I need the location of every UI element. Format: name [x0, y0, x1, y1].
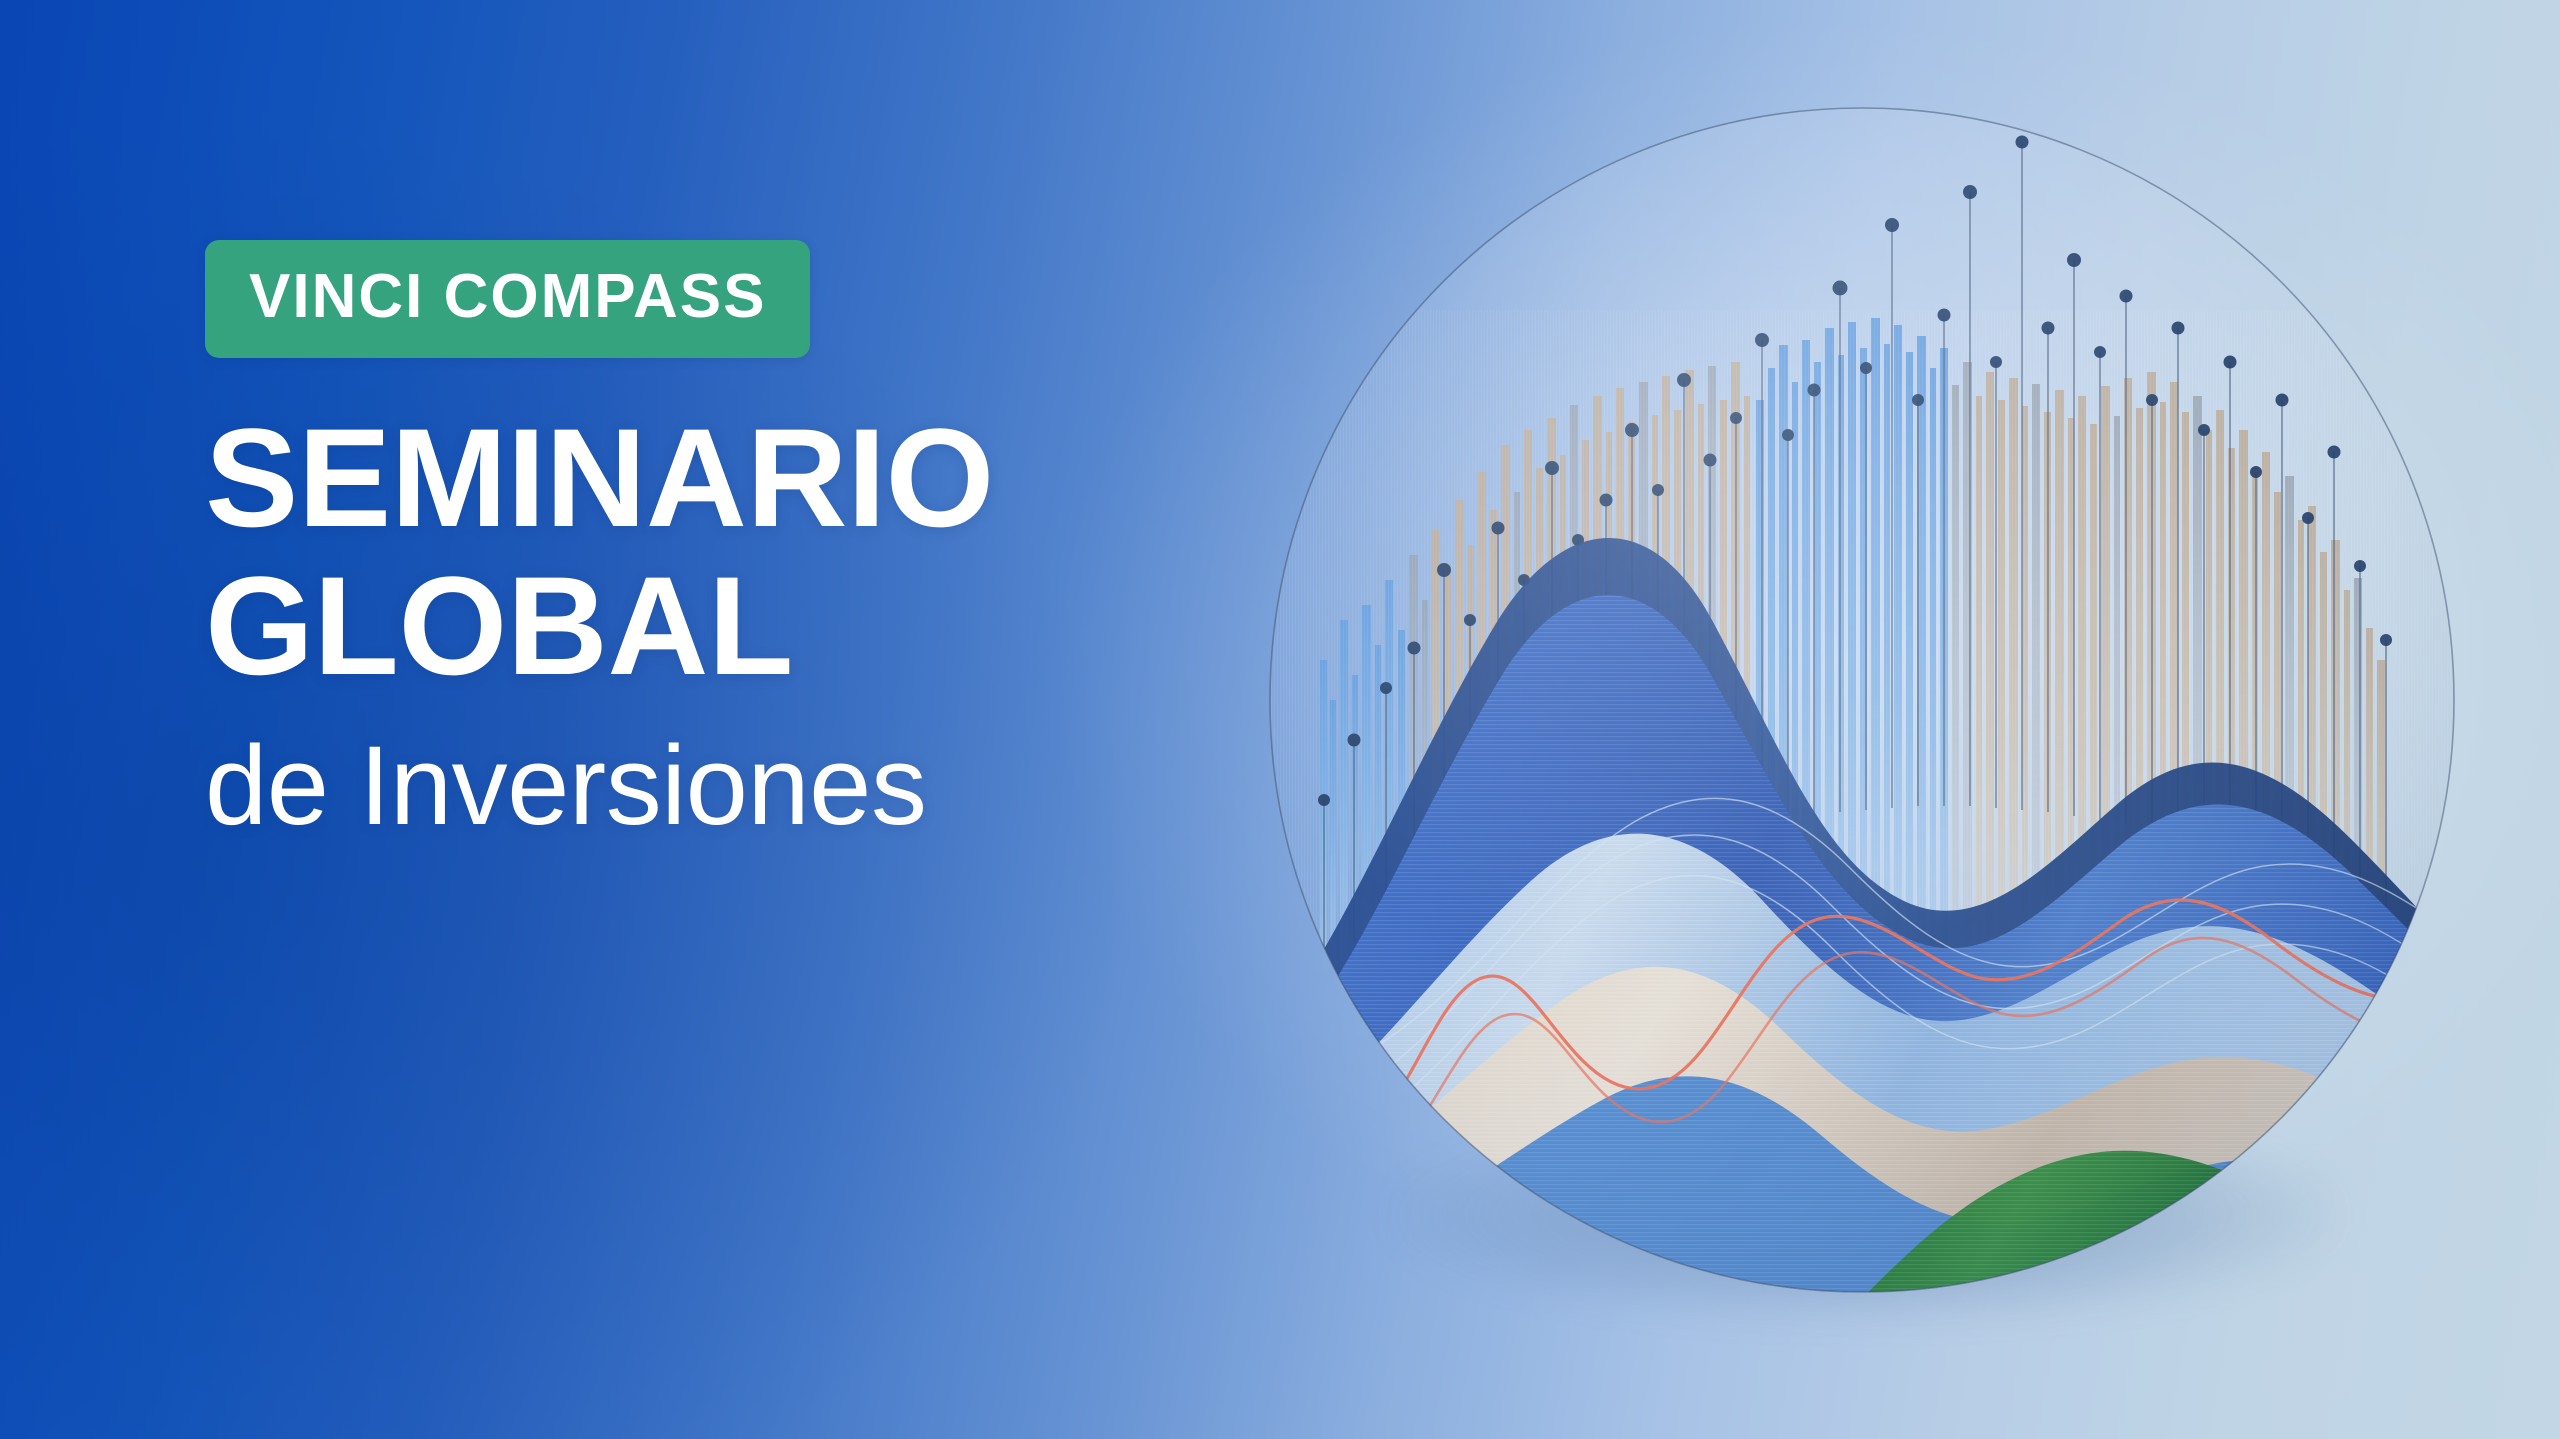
- sphere-interior: [1262, 108, 2462, 1300]
- data-sphere-artwork: [1262, 100, 2462, 1300]
- headline-line-2: GLOBAL: [205, 552, 1225, 700]
- brand-badge-label: VINCI COMPASS: [249, 266, 766, 328]
- banner-root: VINCI COMPASS SEMINARIO GLOBAL de Invers…: [0, 0, 2560, 1439]
- sphere-svg: [1262, 100, 2462, 1300]
- brand-badge: VINCI COMPASS: [205, 240, 810, 358]
- banner-content: VINCI COMPASS SEMINARIO GLOBAL de Invers…: [205, 240, 1225, 844]
- page-title: SEMINARIO GLOBAL de Inversiones: [205, 404, 1225, 844]
- headline-line-1: SEMINARIO: [205, 404, 1225, 552]
- sphere-glass-shading: [1270, 108, 2454, 1292]
- data-sphere: [1262, 100, 2462, 1300]
- headline-subtitle: de Inversiones: [205, 727, 1225, 845]
